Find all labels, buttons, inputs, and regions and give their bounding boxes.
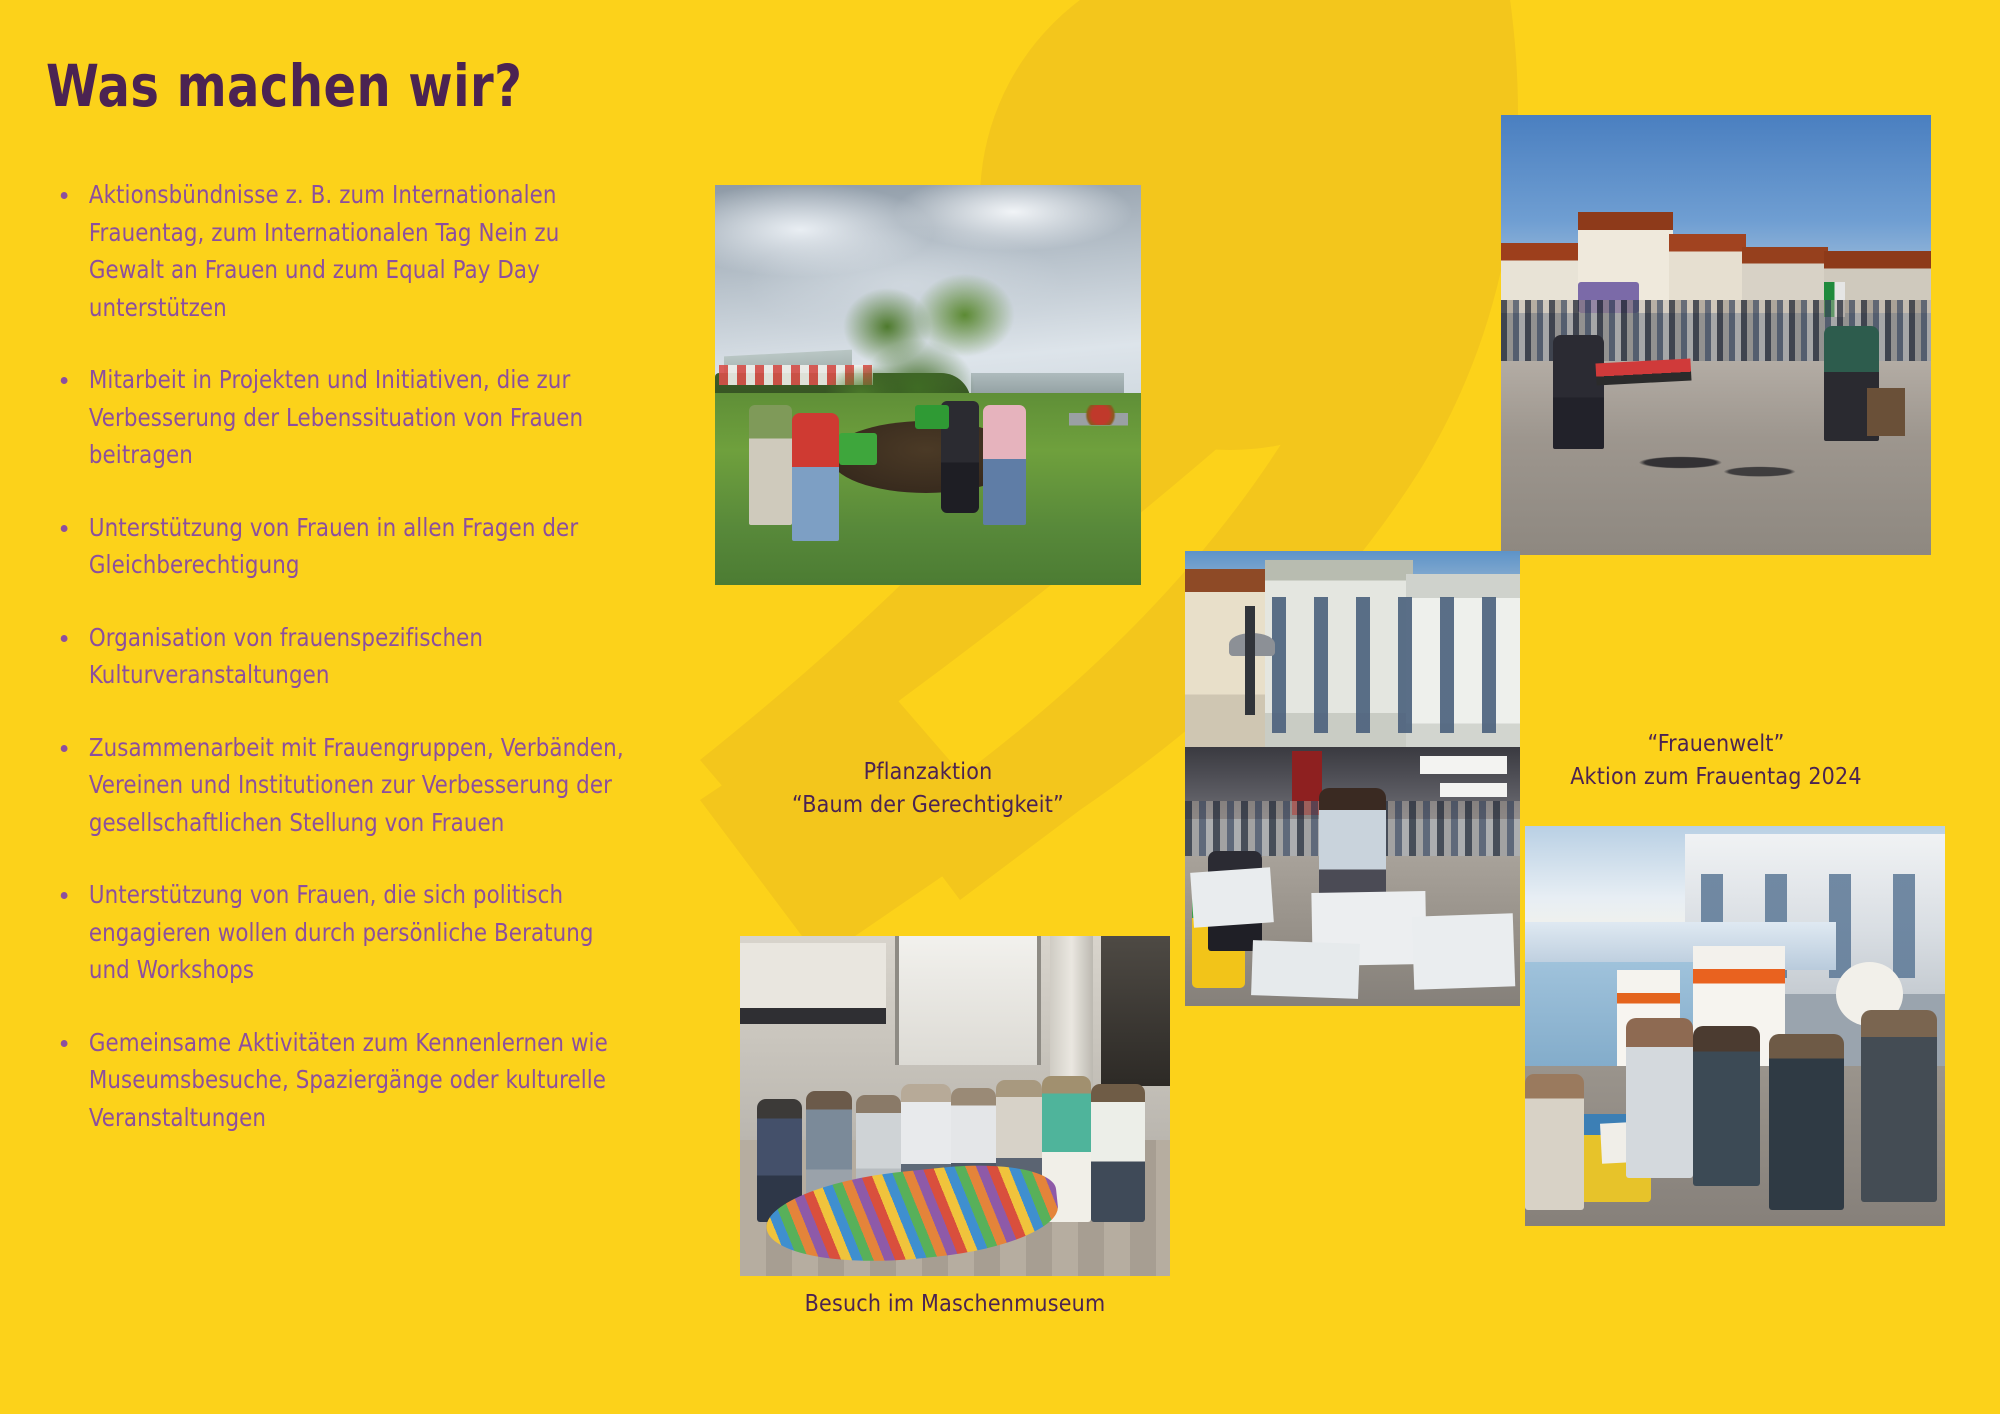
list-item-label: Organisation von frauenspezifischen Kult… (89, 623, 483, 690)
photo-person (1693, 1026, 1760, 1186)
list-item-label: Unterstützung von Frauen, die sich polit… (89, 880, 594, 984)
bullet-dot-icon (61, 745, 68, 752)
photo-exhibit-banner (740, 943, 886, 1025)
photo-stand (1525, 826, 1945, 1226)
bullet-dot-icon (61, 525, 68, 532)
photo-protest-sign (1190, 867, 1274, 927)
page-title: Was machen wir? (46, 52, 522, 120)
list-item-label: Mitarbeit in Projekten und Initiativen, … (89, 365, 583, 469)
list-item: Unterstützung von Frauen, die sich polit… (52, 876, 634, 989)
photo-caption-planting: Pflanzaktion “Baum der Gerechtigkeit” (715, 756, 1141, 822)
list-item-label: Gemeinsame Aktivitäten zum Kennenlernen … (89, 1028, 608, 1132)
photo-shop-sign (1440, 783, 1507, 797)
photo-musician (1553, 335, 1605, 449)
photo-caption-museum: Besuch im Maschenmuseum (740, 1288, 1170, 1321)
caption-line-2: Aktion zum Frauentag 2024 (1501, 761, 1931, 794)
list-item: Gemeinsame Aktivitäten zum Kennenlernen … (52, 1024, 634, 1137)
photo-lamp-post (1245, 606, 1255, 715)
caption-line-1: “Frauenwelt” (1501, 728, 1931, 761)
photo-caption-frauenwelt: “Frauenwelt” Aktion zum Frauentag 2024 (1501, 728, 1931, 794)
photo-person (749, 405, 792, 525)
bullet-dot-icon (61, 192, 68, 199)
photo-person (983, 405, 1026, 525)
photo-shop-sign (1420, 756, 1507, 774)
bullet-dot-icon (61, 892, 68, 899)
caption-line-1: Pflanzaktion (715, 756, 1141, 789)
photo-watering-can (915, 405, 949, 429)
list-item-label: Zusammenarbeit mit Frauengruppen, Verbän… (89, 733, 624, 837)
photo-cables (1621, 432, 1819, 494)
photo-protest-sign (1251, 940, 1360, 998)
list-item-label: Unterstützung von Frauen in allen Fragen… (89, 513, 578, 580)
photo-person (1769, 1034, 1845, 1210)
caption-line-2: “Baum der Gerechtigkeit” (715, 789, 1141, 822)
photo-windows (1272, 597, 1507, 734)
list-item: Aktionsbündnisse z. B. zum International… (52, 176, 634, 326)
photo-protest-sign (1412, 913, 1515, 989)
photo-planting (715, 185, 1141, 585)
photo-museum (740, 936, 1170, 1276)
photo-frauenwelt (1501, 115, 1931, 555)
list-item: Mitarbeit in Projekten und Initiativen, … (52, 361, 634, 474)
caption-line-1: Besuch im Maschenmuseum (740, 1288, 1170, 1321)
slide-content: Was machen wir? Aktionsbündnisse z. B. z… (0, 0, 2000, 1414)
photo-watering-can (839, 433, 877, 465)
photo-cajon-drum (1867, 388, 1906, 436)
bullet-dot-icon (61, 1040, 68, 1047)
list-item: Zusammenarbeit mit Frauengruppen, Verbän… (52, 729, 634, 842)
list-item: Organisation von frauenspezifischen Kult… (52, 619, 634, 694)
list-item: Unterstützung von Frauen in allen Fragen… (52, 509, 634, 584)
photo-person (1525, 1074, 1584, 1210)
bullet-dot-icon (61, 377, 68, 384)
photo-person (792, 413, 839, 541)
list-item-label: Aktionsbündnisse z. B. zum International… (89, 180, 560, 322)
photo-flowers (1081, 405, 1119, 425)
photo-person (1091, 1084, 1145, 1222)
photo-demo (1185, 551, 1520, 1006)
photo-person (1861, 1010, 1937, 1202)
photo-side-table (1069, 413, 1129, 501)
bullet-list: Aktionsbündnisse z. B. zum International… (52, 176, 652, 1171)
bullet-dot-icon (61, 635, 68, 642)
photo-person (1626, 1018, 1693, 1178)
